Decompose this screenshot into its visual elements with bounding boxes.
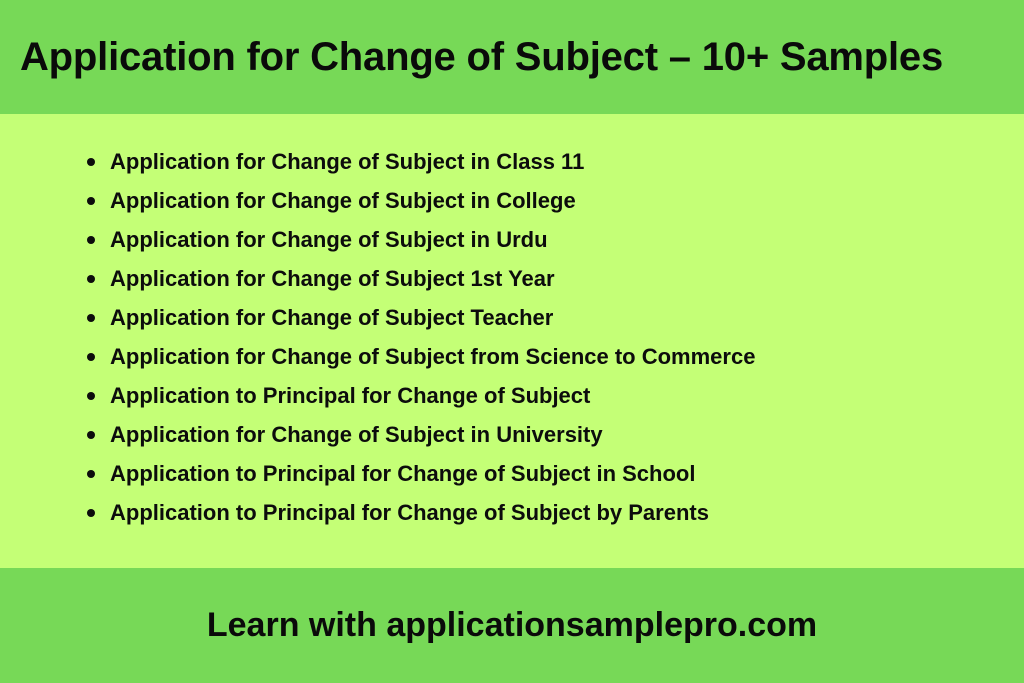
list-item[interactable]: Application for Change of Subject from S… bbox=[0, 337, 1024, 376]
list-item[interactable]: Application to Principal for Change of S… bbox=[0, 376, 1024, 415]
poster-root: Application for Change of Subject – 10+ … bbox=[0, 0, 1024, 683]
list-item-label: Application for Change of Subject from S… bbox=[110, 337, 755, 376]
list-item-label: Application for Change of Subject in Urd… bbox=[110, 220, 548, 259]
sample-list: Application for Change of Subject in Cla… bbox=[0, 142, 1024, 532]
list-item-label: Application to Principal for Change of S… bbox=[110, 454, 695, 493]
list-item[interactable]: Application for Change of Subject in Cla… bbox=[0, 142, 1024, 181]
bullet-dot-icon bbox=[87, 392, 95, 400]
list-item-label: Application for Change of Subject 1st Ye… bbox=[110, 259, 555, 298]
bullet-dot-icon bbox=[87, 353, 95, 361]
list-item-label: Application to Principal for Change of S… bbox=[110, 493, 709, 532]
list-item[interactable]: Application for Change of Subject in Col… bbox=[0, 181, 1024, 220]
list-item-label: Application for Change of Subject in Col… bbox=[110, 181, 576, 220]
list-item-label: Application for Change of Subject in Cla… bbox=[110, 142, 584, 181]
list-item[interactable]: Application for Change of Subject in Uni… bbox=[0, 415, 1024, 454]
bullet-dot-icon bbox=[87, 431, 95, 439]
list-item[interactable]: Application for Change of Subject Teache… bbox=[0, 298, 1024, 337]
footer-band: Learn with applicationsamplepro.com bbox=[0, 568, 1024, 683]
list-item-label: Application to Principal for Change of S… bbox=[110, 376, 590, 415]
bullet-dot-icon bbox=[87, 236, 95, 244]
list-item[interactable]: Application to Principal for Change of S… bbox=[0, 493, 1024, 532]
bullet-dot-icon bbox=[87, 197, 95, 205]
footer-branding-text: Learn with applicationsamplepro.com bbox=[207, 606, 817, 645]
header-band: Application for Change of Subject – 10+ … bbox=[0, 0, 1024, 114]
bullet-dot-icon bbox=[87, 509, 95, 517]
list-item[interactable]: Application for Change of Subject in Urd… bbox=[0, 220, 1024, 259]
page-title: Application for Change of Subject – 10+ … bbox=[20, 35, 943, 79]
content-band: Application for Change of Subject in Cla… bbox=[0, 114, 1024, 568]
bullet-dot-icon bbox=[87, 275, 95, 283]
list-item-label: Application for Change of Subject in Uni… bbox=[110, 415, 603, 454]
list-item[interactable]: Application for Change of Subject 1st Ye… bbox=[0, 259, 1024, 298]
bullet-dot-icon bbox=[87, 470, 95, 478]
bullet-dot-icon bbox=[87, 158, 95, 166]
bullet-dot-icon bbox=[87, 314, 95, 322]
list-item[interactable]: Application to Principal for Change of S… bbox=[0, 454, 1024, 493]
list-item-label: Application for Change of Subject Teache… bbox=[110, 298, 553, 337]
